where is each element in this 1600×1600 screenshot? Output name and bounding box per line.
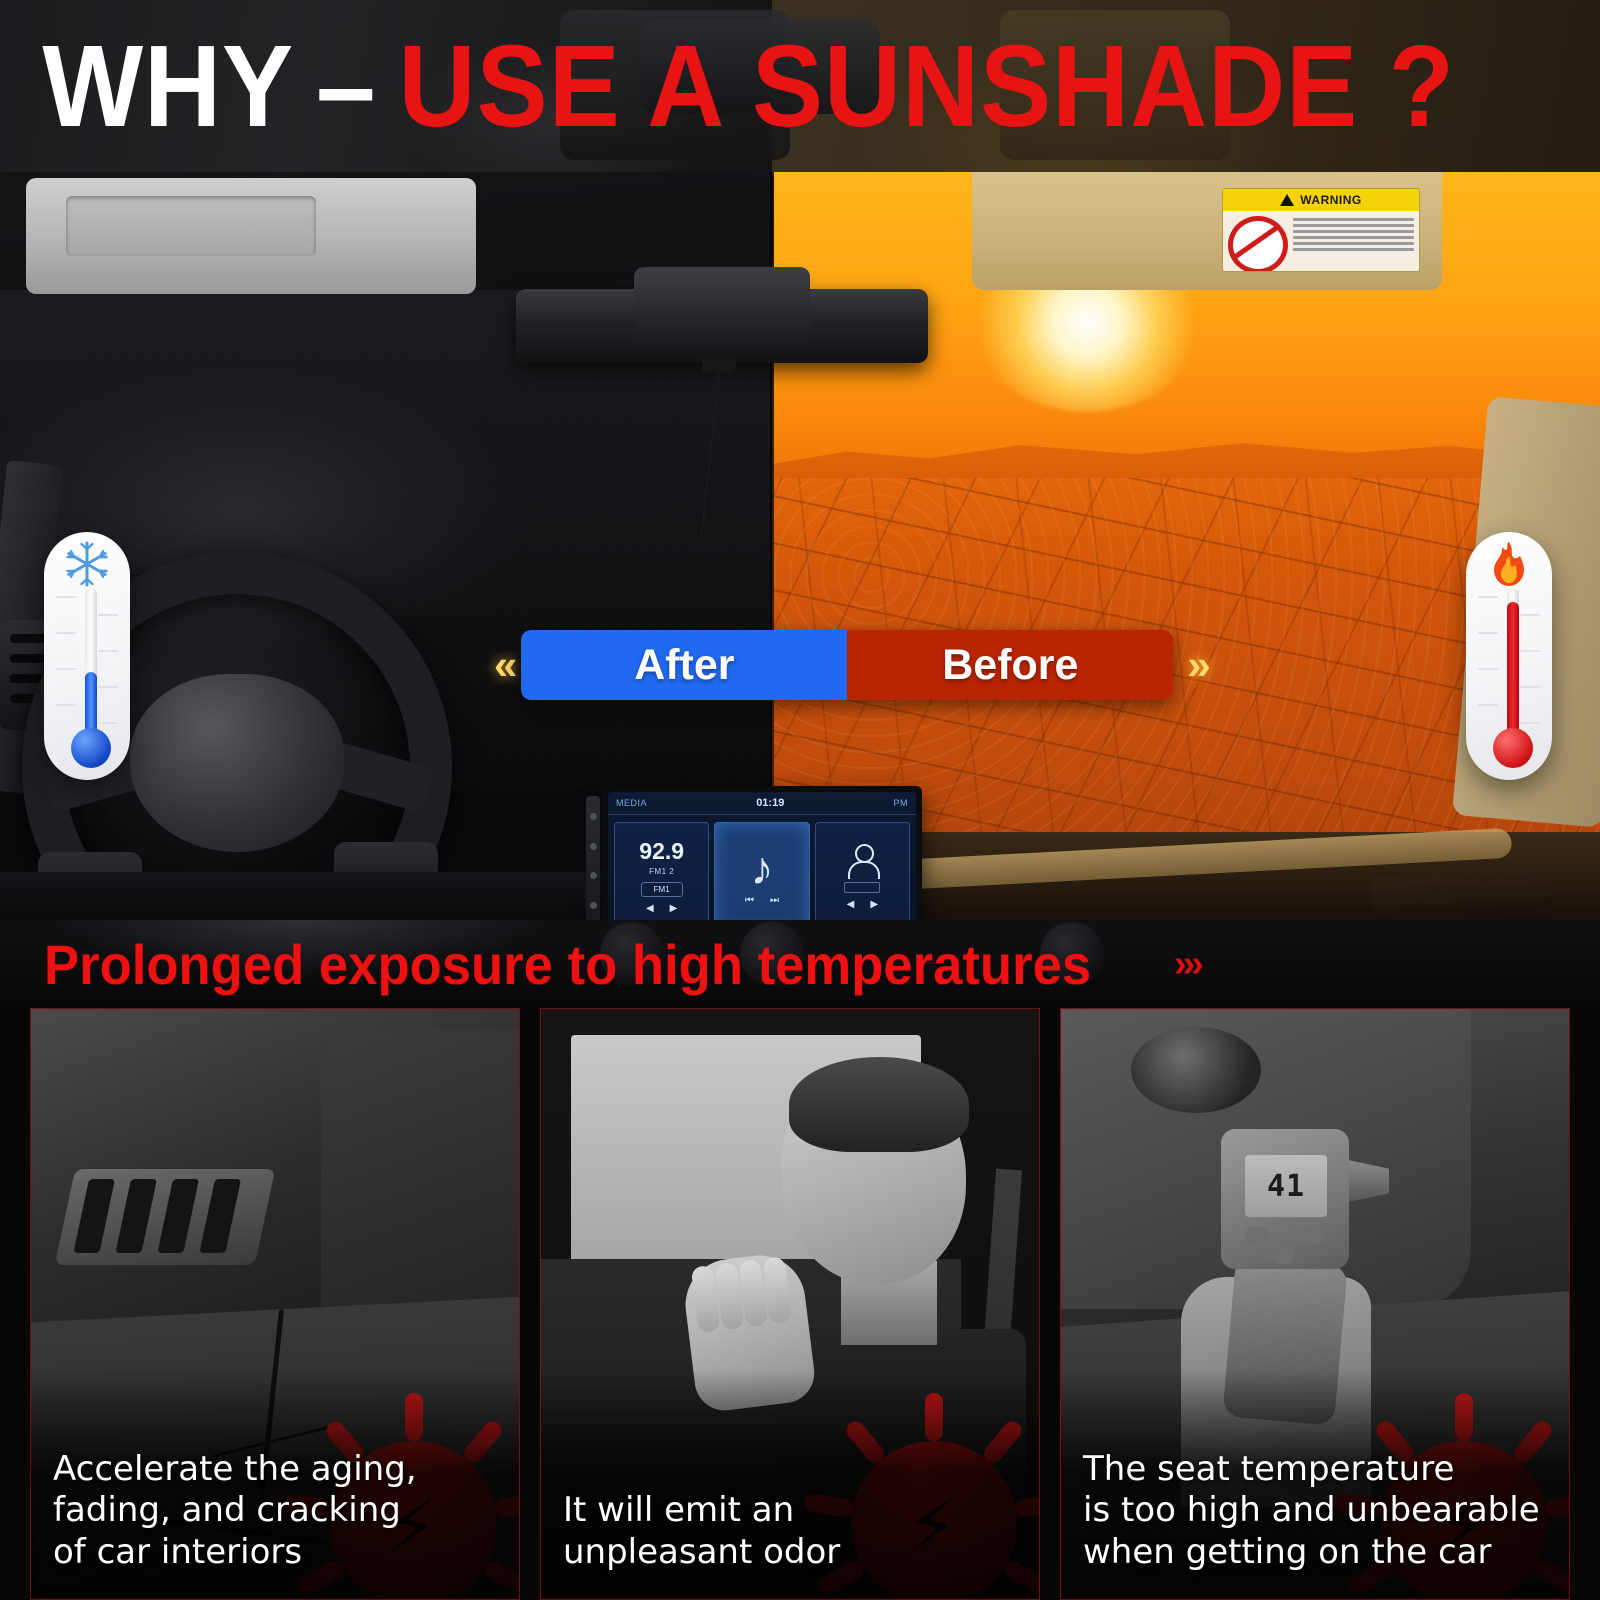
after-label[interactable]: After <box>521 630 847 700</box>
sunshade-center-pad <box>634 267 810 341</box>
sun-visor-left <box>26 178 476 294</box>
meter-reading: 41 <box>1267 1169 1305 1204</box>
media-card[interactable]: ♪ ⏮ ⏭ <box>714 822 809 920</box>
panel-unpleasant-odor: ⚡ It will emit an unpleasant odor <box>540 1008 1040 1600</box>
caption-line: It will emit an <box>563 1490 1017 1531</box>
caption-line: The seat temperature <box>1083 1449 1547 1490</box>
header-banner: WHY – USE A SUNSHADE ? <box>0 0 1600 172</box>
caption-line: Accelerate the aging, <box>53 1449 497 1490</box>
benefit-panels: ⚡ Accelerate the aging, fading, and crac… <box>0 1008 1600 1600</box>
radio-preset: FM1 2 <box>649 867 674 876</box>
panel-aging-interiors: ⚡ Accelerate the aging, fading, and crac… <box>30 1008 520 1600</box>
head-unit-clock-suffix: PM <box>894 798 909 808</box>
warning-label-body <box>1223 211 1419 272</box>
ir-thermometer-gun: 41 <box>1221 1129 1349 1269</box>
defroster-vent <box>55 1169 275 1265</box>
warning-heading: WARNING <box>1300 193 1362 207</box>
compare-pill: After Before <box>521 630 1173 700</box>
airbag-hub <box>130 674 344 852</box>
meter-button-1[interactable] <box>1245 1227 1269 1244</box>
panel-caption-2: It will emit an unpleasant odor <box>541 1490 1039 1599</box>
panel-caption-1: Accelerate the aging, fading, and cracki… <box>31 1449 519 1599</box>
radio-card[interactable]: 92.9 FM1 2 FM1 ◀ ▶ <box>614 822 709 920</box>
head-unit-side-buttons[interactable] <box>586 796 600 920</box>
radio-tuning-arrows[interactable]: ◀ ▶ <box>646 903 677 914</box>
chevron-left-icon: « <box>480 641 521 689</box>
hu-button-power[interactable] <box>590 813 597 820</box>
warning-triangle-icon <box>1280 194 1294 206</box>
air-vent-right <box>1371 867 1554 920</box>
title-dash: – <box>316 28 376 144</box>
sunshade-product <box>516 267 928 375</box>
hero-comparison: WARNING <box>0 172 1600 920</box>
title-word-why: WHY <box>42 28 294 144</box>
banner-headline: Prolonged exposure to high temperatures <box>44 932 1091 997</box>
panel-hot-seat: 41 ⚡ The seat temperature is too <box>1060 1008 1570 1600</box>
thermometer-level-hot <box>1507 602 1519 744</box>
before-after-badge: « After Before » <box>480 630 1215 700</box>
before-label[interactable]: Before <box>847 630 1173 700</box>
media-next-icon[interactable]: ⏭ <box>770 895 779 906</box>
head-unit-status-bar: MEDIA 01:19 PM <box>608 792 916 815</box>
head-unit-clock: 01:19 <box>756 797 784 809</box>
airbag-warning-label: WARNING <box>1222 188 1420 272</box>
sun-visor-right: WARNING <box>972 172 1442 290</box>
profile-progress-bar <box>844 882 880 893</box>
no-child-seat-icon <box>1228 216 1288 272</box>
chevron-right-icon: » <box>1173 641 1214 689</box>
profile-next-icon[interactable]: ▶ <box>870 899 878 910</box>
caption-line: of car interiors <box>53 1532 497 1573</box>
head-unit-card-row: 92.9 FM1 2 FM1 ◀ ▶ ♪ ⏮ ⏭ <box>608 815 916 920</box>
radio-prev-icon[interactable]: ◀ <box>646 903 654 914</box>
warning-text-lines <box>1293 216 1414 272</box>
ir-thermometer-display: 41 <box>1245 1155 1327 1217</box>
warning-label-header: WARNING <box>1223 189 1419 211</box>
section-banner: Prolonged exposure to high temperatures … <box>0 920 1600 1008</box>
infotainment-head-unit[interactable]: MEDIA 01:19 PM 92.9 FM1 2 FM1 ◀ ▶ <box>602 786 922 920</box>
meter-button-2[interactable] <box>1299 1227 1323 1244</box>
meter-button-3[interactable] <box>1271 1247 1295 1264</box>
panel-caption-3: The seat temperature is too high and unb… <box>1061 1449 1569 1599</box>
thermometer-bulb-hot <box>1493 728 1533 768</box>
infographic-root: WHY – USE A SUNSHADE ? <box>0 0 1600 1600</box>
hu-button-nav[interactable] <box>590 902 597 909</box>
head-unit-source-label: MEDIA <box>616 798 647 808</box>
banner-text-row: Prolonged exposure to high temperatures … <box>44 920 1200 1008</box>
radio-frequency: 92.9 <box>639 840 684 863</box>
hu-button-home[interactable] <box>590 843 597 850</box>
title-phrase-red: USE A SUNSHADE ? <box>399 28 1455 144</box>
thermometer-hot <box>1466 532 1552 780</box>
head-unit-screen[interactable]: MEDIA 01:19 PM 92.9 FM1 2 FM1 ◀ ▶ <box>608 792 916 920</box>
media-transport-controls[interactable]: ⏮ ⏭ <box>745 895 779 906</box>
profile-prev-icon[interactable]: ◀ <box>847 899 855 910</box>
caption-line: when getting on the car <box>1083 1532 1547 1573</box>
profile-card[interactable]: ◀ ▶ <box>815 822 910 920</box>
radio-next-icon[interactable]: ▶ <box>670 903 678 914</box>
radio-band-chip[interactable]: FM1 <box>641 882 683 897</box>
caption-line: fading, and cracking <box>53 1490 497 1531</box>
hu-button-volume[interactable] <box>590 872 597 879</box>
profile-arrows[interactable]: ◀ ▶ <box>847 899 878 910</box>
page-title: WHY – USE A SUNSHADE ? <box>0 0 1472 172</box>
media-prev-icon[interactable]: ⏮ <box>745 895 754 906</box>
banner-chevrons-icon: ››› <box>1174 943 1200 986</box>
music-note-icon: ♪ <box>750 848 773 889</box>
thermometer-cold <box>44 532 130 780</box>
thermometer-bulb-cold <box>71 728 111 768</box>
wrist-watch <box>1131 1027 1261 1113</box>
person-icon <box>847 844 877 878</box>
caption-line: unpleasant odor <box>563 1532 1017 1573</box>
caption-line: is too high and unbearable <box>1083 1490 1547 1531</box>
man-hair <box>789 1057 969 1152</box>
